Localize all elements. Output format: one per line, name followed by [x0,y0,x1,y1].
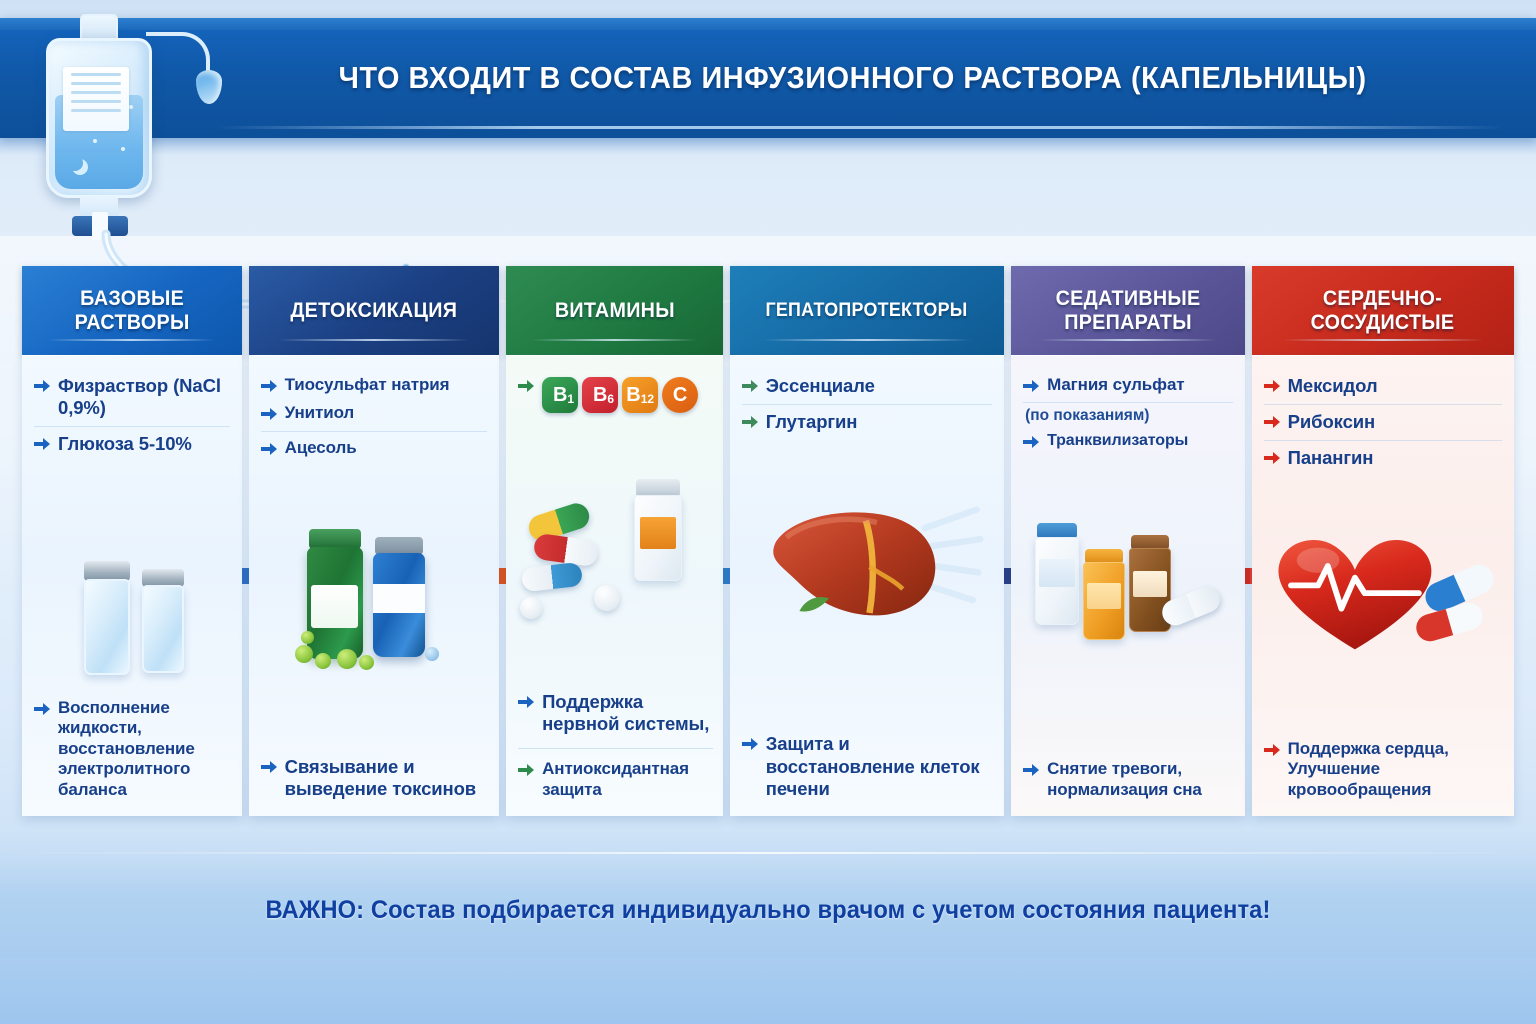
page-title: ЧТО ВХОДИТ В СОСТАВ ИНФУЗИОННОГО РАСТВОР… [339,60,1367,96]
list-item[interactable]: Тиосульфат натрия [261,369,487,397]
column-sedatives: СЕДАТИВНЫЕ ПРЕПАРАТЫ Магния сульфат (по … [1011,266,1245,816]
column-base-solutions: БАЗОВЫЕ РАСТВОРЫ Физраствор (NaCl 0,9%) … [22,266,242,816]
outcome-label: Антиоксидантная защита [542,759,713,800]
column-header-cardiovascular: СЕРДЕЧНО- СОСУДИСТЫЕ [1252,266,1514,355]
item-list: Эссенциале Глутаргин [730,355,1004,435]
column-title: ДЕТОКСИКАЦИЯ [290,299,457,323]
water-drop-icon [196,70,222,104]
column-title-line1: СЕДАТИВНЫЕ [1055,287,1200,310]
green-blue-bottles-icon [249,527,499,687]
pill-bottles-icon [1011,523,1245,683]
column-header-base-solutions: БАЗОВЫЕ РАСТВОРЫ [22,266,242,355]
outcome-label: Поддержка нервной системы, [542,691,713,735]
badge-label: B [626,385,640,405]
item-list: Мексидол Рибоксин Панангин [1252,355,1514,472]
badge-sub: 12 [641,393,654,405]
arrow-right-green-icon [518,379,535,393]
list-item[interactable]: Поддержка нервной системы, [518,685,713,742]
list-item-label: Транквилизаторы [1047,431,1188,450]
vitamin-badge-c[interactable]: C [662,377,698,413]
liver-icon [730,495,1004,645]
arrow-right-icon [261,442,278,456]
list-item[interactable]: Ацесоль [261,432,487,465]
column-title-line1: СЕРДЕЧНО- [1323,287,1442,310]
list-item-label: Физраствор (NaCl 0,9%) [58,375,230,419]
column-header-hepatoprotectors: ГЕПАТОПРОТЕКТОРЫ [730,266,1004,355]
list-item[interactable]: Поддержка сердца, Улучшение кровообращен… [1264,733,1504,802]
list-item-label: Мексидол [1288,375,1378,397]
item-list: Физраствор (NaCl 0,9%) Глюкоза 5-10% [22,355,242,463]
column-detox: ДЕТОКСИКАЦИЯ Тиосульфат натрия Унитиол А… [249,266,499,816]
column-body-vitamins: B1 B6 B12 C [506,355,723,816]
list-item-label: Магния сульфат [1047,375,1184,395]
arrow-right-icon [1023,379,1040,393]
list-item-label: Рибоксин [1288,411,1376,433]
badge-label: C [673,385,687,405]
outcome-block: Восполнение жидкости, восстановление эле… [34,692,232,802]
list-item[interactable]: Панангин [1264,441,1502,471]
arrow-right-icon [261,379,278,393]
arrow-right-icon [1023,763,1040,777]
badge-label: B [553,385,567,405]
iv-hook-icon [146,32,210,76]
iv-clamp-icon [72,216,128,236]
outcome-block: Связывание и выведение токсинов [261,750,489,802]
column-hepatoprotectors: ГЕПАТОПРОТЕКТОРЫ Эссенциале Глутаргин [730,266,1004,816]
outcome-label: Защита и восстановление клеток печени [766,733,994,800]
outcome-block: Снятие тревоги, нормализация сна [1023,753,1235,802]
column-vitamins: ВИТАМИНЫ B1 B6 B12 [506,266,723,816]
list-item[interactable]: Унитиол [261,397,487,431]
list-item-label: Тиосульфат натрия [285,375,450,395]
list-item[interactable]: Антиоксидантная защита [518,753,713,802]
list-item-label: Панангин [1288,447,1374,469]
badge-sub: 6 [607,393,614,405]
arrow-right-red-icon [1264,379,1281,393]
footer-note: ВАЖНО: Состав подбирается индивидуально … [265,896,1270,925]
column-cardiovascular: СЕРДЕЧНО- СОСУДИСТЫЕ Мексидол Рибоксин П… [1252,266,1514,816]
list-item[interactable]: Глутаргин [742,405,992,435]
glass-vials-icon [22,555,242,685]
vitamin-badge-row: B1 B6 B12 C [518,369,711,415]
column-title: ГЕПАТОПРОТЕКТОРЫ [766,300,968,321]
arrow-right-green-icon [742,415,759,429]
outcome-block: Поддержка нервной системы, Антиоксидантн… [518,685,713,802]
outcome-label: Поддержка сердца, Улучшение кровообращен… [1288,739,1504,800]
arrow-right-icon [34,437,51,451]
column-header-sedatives: СЕДАТИВНЫЕ ПРЕПАРАТЫ [1011,266,1245,355]
list-item[interactable]: Связывание и выведение токсинов [261,750,489,802]
arrow-right-icon [34,702,51,716]
arrow-right-red-icon [1264,743,1281,757]
badge-label: B [593,385,607,405]
column-title-line1: БАЗОВЫЕ [80,287,184,310]
arrow-right-icon [261,760,278,774]
arrow-right-red-icon [1264,451,1281,465]
item-list: Магния сульфат (по показаниям) Транквили… [1011,355,1245,453]
item-list: Тиосульфат натрия Унитиол Ацесоль [249,355,499,465]
outcome-label: Связывание и выведение токсинов [285,756,489,800]
column-header-detox: ДЕТОКСИКАЦИЯ [249,266,499,355]
item-list: B1 B6 B12 C [506,355,723,415]
outcome-label: Снятие тревоги, нормализация сна [1047,759,1235,800]
column-title-line2: ПРЕПАРАТЫ [1064,311,1192,334]
heart-ecg-icon [1252,523,1514,683]
column-header-vitamins: ВИТАМИНЫ [506,266,723,355]
iv-drip-bag-icon [28,8,258,268]
arrow-right-green-icon [518,763,535,777]
list-item-label: Глутаргин [766,411,858,433]
list-item[interactable]: Снятие тревоги, нормализация сна [1023,753,1235,802]
list-item[interactable]: Магния сульфат [1023,369,1233,403]
arrow-right-icon [742,737,759,751]
list-item[interactable]: Рибоксин [1264,405,1502,441]
column-body-hepatoprotectors: Эссенциале Глутаргин [730,355,1004,816]
vitamin-badge-b6[interactable]: B6 [582,377,618,413]
iv-bag-body [46,38,152,198]
iv-bag-label [63,67,129,131]
moon-icon [67,155,83,171]
outcome-block: Защита и восстановление клеток печени [742,727,994,802]
outcome-label: Восполнение жидкости, восстановление эле… [58,698,232,800]
list-item[interactable]: Глюкоза 5-10% [34,427,230,462]
list-item[interactable]: Транквилизаторы [1023,425,1233,452]
list-item[interactable]: Мексидол [1264,369,1502,405]
column-body-cardiovascular: Мексидол Рибоксин Панангин [1252,355,1514,816]
list-item[interactable]: Восполнение жидкости, восстановление эле… [34,692,232,802]
column-title-line2: СОСУДИСТЫЕ [1311,311,1455,334]
list-item[interactable]: Эссенциале [742,369,992,405]
column-body-detox: Тиосульфат натрия Унитиол Ацесоль [249,355,499,816]
list-item-label: Глюкоза 5-10% [58,433,192,455]
capsules-and-jar-icon [506,473,723,623]
list-item-label: Эссенциале [766,375,875,397]
arrow-right-icon [34,379,51,393]
arrow-right-green-icon [742,379,759,393]
sedatives-note: (по показаниям) [1023,403,1233,425]
footer-banner: ВАЖНО: Состав подбирается индивидуально … [0,862,1536,958]
column-title-line2: РАСТВОРЫ [74,311,189,334]
arrow-right-icon [518,695,535,709]
vitamin-badge-b1[interactable]: B1 [542,377,578,413]
column-body-base-solutions: Физраствор (NaCl 0,9%) Глюкоза 5-10% Вос… [22,355,242,816]
column-title: ВИТАМИНЫ [554,299,674,323]
footer-divider [0,852,1536,854]
columns-board: БАЗОВЫЕ РАСТВОРЫ Физраствор (NaCl 0,9%) … [22,266,1514,816]
list-item[interactable]: Физраствор (NaCl 0,9%) [34,369,230,427]
list-item[interactable]: Защита и восстановление клеток печени [742,727,994,802]
arrow-right-icon [1023,435,1040,449]
arrow-right-red-icon [1264,415,1281,429]
outcome-block: Поддержка сердца, Улучшение кровообращен… [1264,733,1504,802]
header-underline [215,126,1505,129]
list-item-label: Унитиол [285,403,354,423]
vitamin-badge-b12[interactable]: B12 [622,377,658,413]
badge-sub: 1 [567,393,574,405]
column-body-sedatives: Магния сульфат (по показаниям) Транквили… [1011,355,1245,816]
arrow-right-icon [261,407,278,421]
list-item-label: Ацесоль [285,438,357,458]
